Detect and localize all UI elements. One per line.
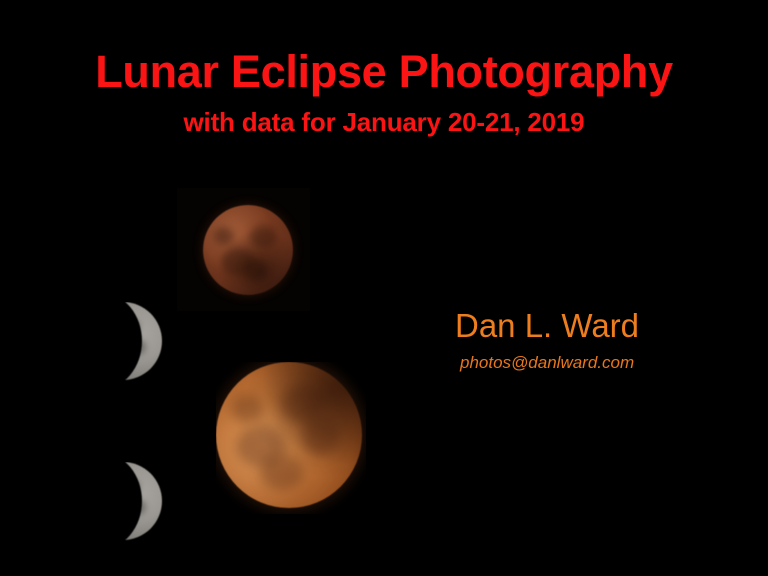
page-title: Lunar Eclipse Photography [0,48,768,97]
mare-patch [214,227,234,245]
author-name: Dan L. Ward [455,308,715,344]
author-email: photos@danlward.com [460,353,715,373]
limb-shadow [216,362,362,508]
title-slide: Lunar Eclipse Photography with data for … [0,0,768,576]
moon-totality-small-disc [203,205,293,295]
umbral-shadow [84,302,142,384]
umbral-shadow [84,462,142,544]
page-subtitle: with data for January 20-21, 2019 [0,107,768,138]
moon-partial-upper-disc [84,302,162,380]
moon-partial-lower-disc [84,462,162,540]
partial-moon-lower-photo [84,462,166,544]
mare-patch [244,259,267,281]
totality-moon-large-photo [216,362,366,514]
moon-totality-large-disc [216,362,362,508]
title-block: Lunar Eclipse Photography with data for … [0,48,768,138]
author-block: Dan L. Ward photos@danlward.com [455,308,715,373]
partial-moon-upper-photo [84,302,166,384]
mare-patch [250,225,277,248]
totality-moon-small-photo [177,188,310,311]
